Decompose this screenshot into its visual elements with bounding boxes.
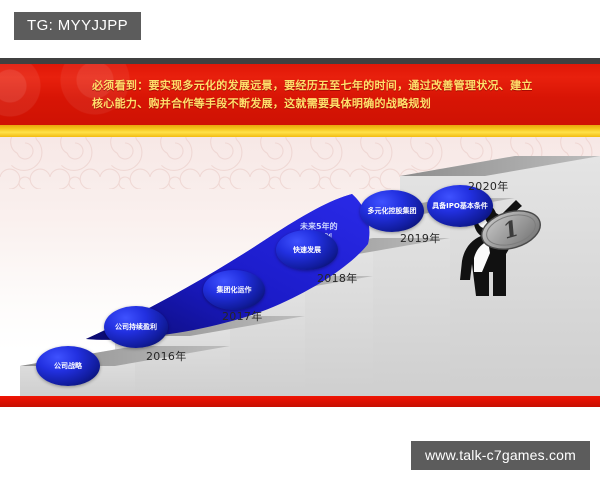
step-year-2017: 2017年 [222, 308, 263, 324]
step-label-2[interactable]: 公司持续盈利 [104, 306, 168, 348]
step-year-2020: 2020年 [468, 178, 509, 194]
step-label-4[interactable]: 快速发展 [276, 230, 338, 270]
step-year-2018: 2018年 [317, 270, 358, 286]
step-year-2016: 2016年 [146, 348, 187, 364]
step-label-1[interactable]: 公司战略 [36, 346, 100, 386]
presentation-slide: 必须看到：要实现多元化的发展远景，要经历五至七年的时间，通过改善管理状况、建立 … [0, 58, 600, 407]
tg-watermark-badge: TG: MYYJJPP [14, 12, 141, 40]
step-label-5[interactable]: 多元化控股集团 [360, 190, 424, 232]
slide-bottom-red-bar [0, 396, 600, 407]
step-year-2019: 2019年 [400, 230, 441, 246]
site-watermark-badge: www.talk-c7games.com [411, 441, 590, 470]
step-label-3[interactable]: 集团化运作 [203, 270, 265, 310]
screenshot-root: 必须看到：要实现多元化的发展远景，要经历五至七年的时间，通过改善管理状况、建立 … [0, 0, 600, 480]
